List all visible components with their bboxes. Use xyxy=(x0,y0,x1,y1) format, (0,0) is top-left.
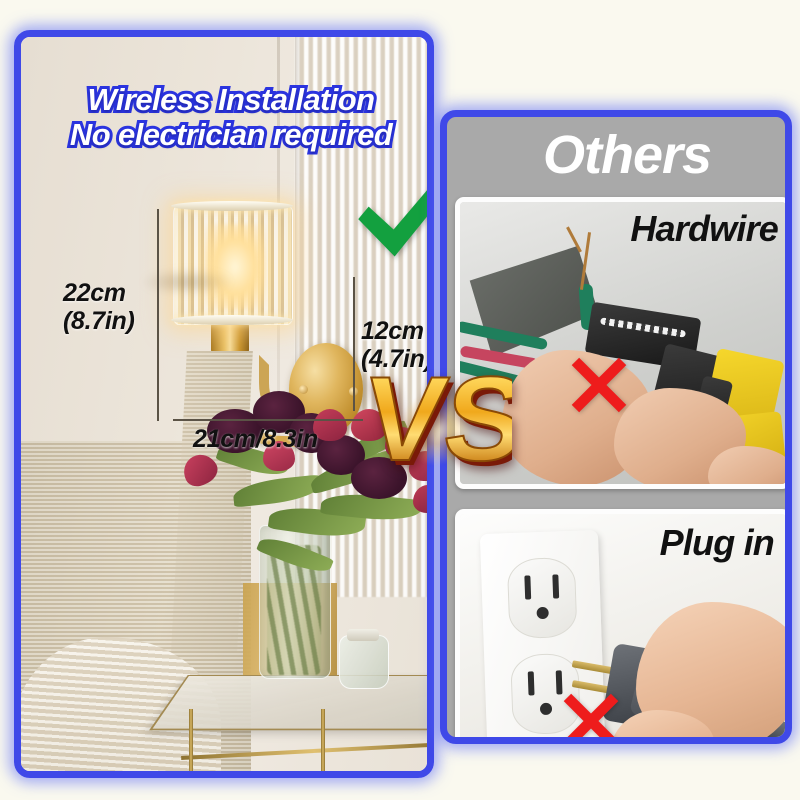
finger xyxy=(708,446,791,489)
outlet-slot xyxy=(528,671,535,695)
headline-line-2: No electrician required xyxy=(31,118,431,153)
vs-text: VS xyxy=(357,351,512,485)
crystal-shade xyxy=(173,205,293,325)
outlet-slot xyxy=(524,575,531,599)
side-table-leg xyxy=(189,709,193,771)
bulb-glow xyxy=(204,224,266,310)
lamp-shadow xyxy=(141,269,233,295)
lamp-screw xyxy=(299,385,308,394)
width-guide-line xyxy=(173,419,363,421)
glass-jar-cap xyxy=(347,629,379,641)
plugin-card: Plug in xyxy=(455,509,791,744)
headline: Wireless Installation No electrician req… xyxy=(31,83,431,152)
height-guide-line xyxy=(157,209,159,421)
dimension-width-label: 21cm/8.3in xyxy=(193,425,318,453)
vs-badge: VS VS xyxy=(352,348,512,498)
infographic-stage: 22cm (8.7in) 12cm (4.7in) 21cm/8.3in Wir… xyxy=(0,0,800,800)
shade-top-rim xyxy=(171,201,293,211)
others-title: Others xyxy=(447,117,785,193)
side-table-leg xyxy=(321,709,325,771)
headline-line-1: Wireless Installation xyxy=(31,83,431,118)
outlet-slot xyxy=(552,574,559,598)
plugin-label: Plug in xyxy=(660,522,774,564)
shade-bottom-rim xyxy=(171,315,293,325)
outlet-ground xyxy=(540,703,552,715)
green-check-icon xyxy=(351,165,434,269)
outlet-ground xyxy=(536,607,548,619)
dimension-height-label: 22cm (8.7in) xyxy=(63,279,135,335)
outlet-socket-top xyxy=(507,557,578,639)
red-x-icon xyxy=(568,354,630,416)
glass-jar xyxy=(339,635,389,689)
red-x-icon xyxy=(560,690,622,744)
hardwire-label: Hardwire xyxy=(630,208,778,250)
